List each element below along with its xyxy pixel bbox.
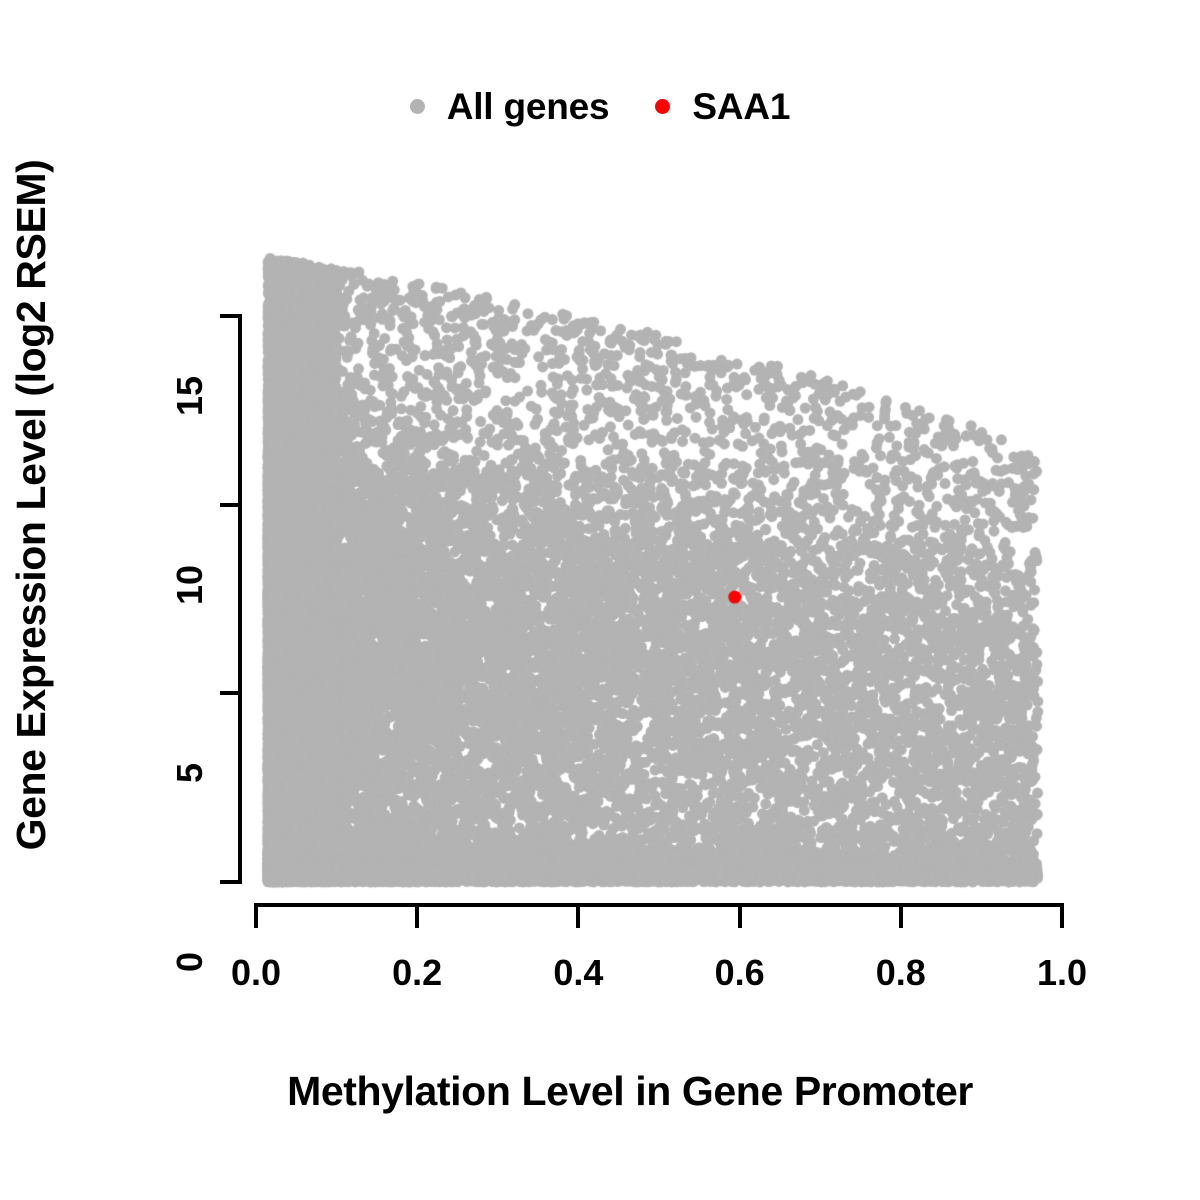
scatter-plot-figure: All genes SAA1 051015 Gene Expression Le… <box>0 0 1200 1200</box>
x-tick-label-0.4: 0.4 <box>518 955 638 991</box>
legend-label-all-genes: All genes <box>447 88 610 125</box>
y-tick-label-10: 10 <box>172 505 208 665</box>
x-tick-0.2 <box>415 903 419 928</box>
chart-legend: All genes SAA1 <box>0 78 1200 134</box>
y-tick-5 <box>220 691 242 695</box>
x-tick-0.4 <box>576 903 580 928</box>
x-tick-label-0.2: 0.2 <box>357 955 477 991</box>
y-tick-15 <box>220 314 242 318</box>
legend-item-all-genes: All genes <box>410 88 610 125</box>
x-tick-0.6 <box>738 903 742 928</box>
y-tick-label-15: 15 <box>172 316 208 476</box>
y-axis-title: Gene Expression Level (log2 RSEM) <box>0 0 62 1010</box>
legend-marker-all-genes-icon <box>410 99 425 114</box>
x-tick-label-0.8: 0.8 <box>841 955 961 991</box>
y-tick-label-5: 5 <box>172 693 208 853</box>
x-axis-line <box>256 903 1064 907</box>
x-tick-label-1.0: 1.0 <box>1002 955 1122 991</box>
legend-marker-saa1-icon <box>655 99 670 114</box>
x-tick-label-0.6: 0.6 <box>680 955 800 991</box>
legend-item-saa1: SAA1 <box>655 88 790 125</box>
x-axis-title: Methylation Level in Gene Promoter <box>130 1068 1130 1115</box>
y-axis-line <box>238 316 242 883</box>
x-tick-0.8 <box>899 903 903 928</box>
x-tick-1.0 <box>1060 903 1064 928</box>
legend-label-saa1: SAA1 <box>692 88 790 125</box>
x-tick-label-0.0: 0.0 <box>196 955 316 991</box>
x-tick-0.0 <box>254 903 258 928</box>
y-tick-10 <box>220 503 242 507</box>
y-tick-0 <box>220 880 242 884</box>
